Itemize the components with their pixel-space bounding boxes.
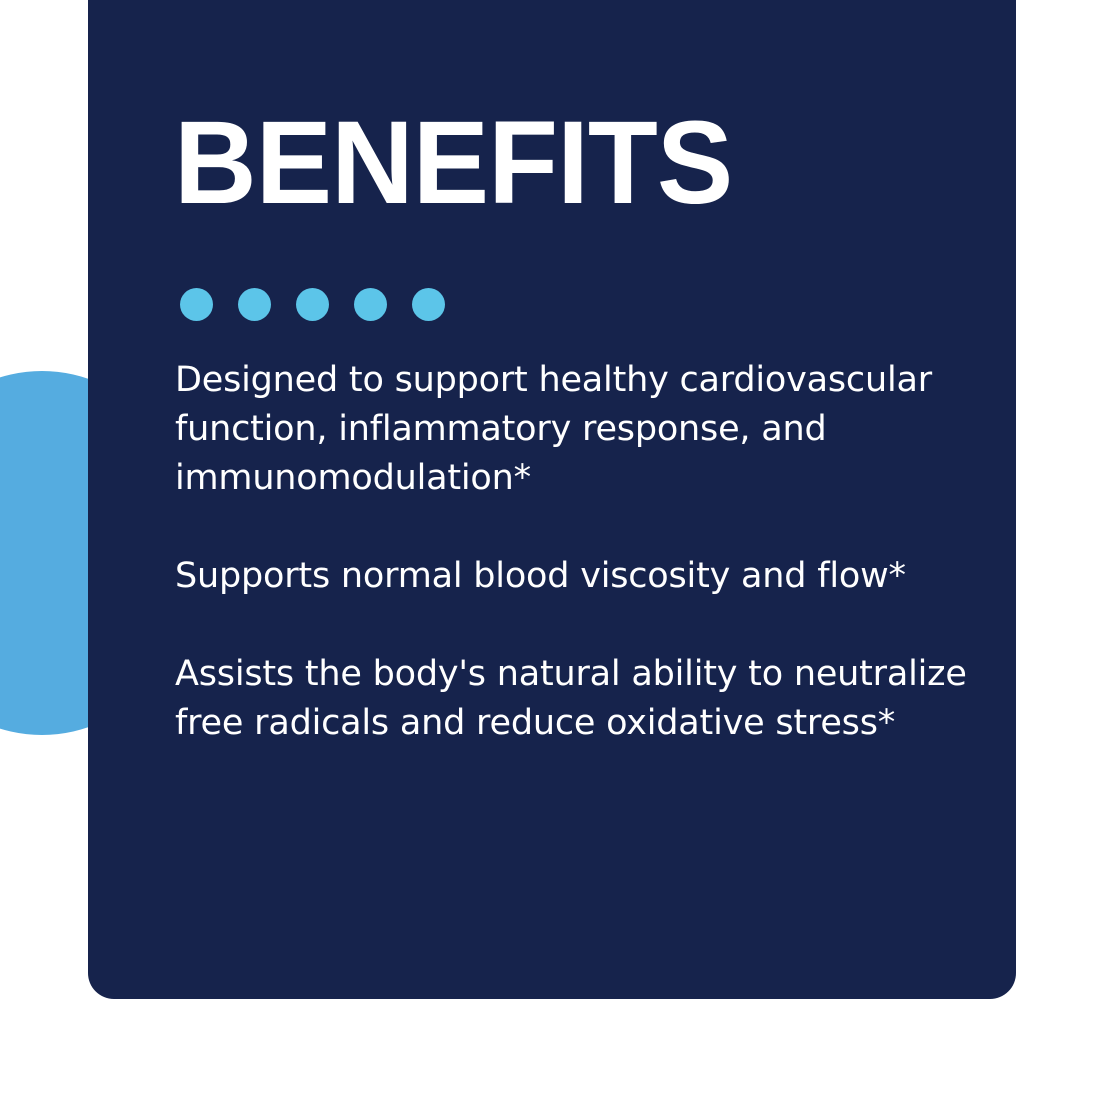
- divider-dot-icon: [296, 288, 329, 321]
- benefits-card-content: BENEFITS Designed to support healthy car…: [88, 0, 1016, 999]
- benefits-card: BENEFITS Designed to support healthy car…: [88, 0, 1016, 999]
- benefits-list: Designed to support healthy cardiovascul…: [175, 356, 985, 748]
- divider-dot-icon: [412, 288, 445, 321]
- dot-divider: [180, 288, 445, 321]
- list-item: Supports normal blood viscosity and flow…: [175, 552, 985, 601]
- divider-dot-icon: [238, 288, 271, 321]
- divider-dot-icon: [180, 288, 213, 321]
- benefits-graphic: BENEFITS Designed to support healthy car…: [0, 0, 1100, 1100]
- page-title: BENEFITS: [174, 104, 732, 222]
- list-item: Assists the body's natural ability to ne…: [175, 650, 985, 748]
- list-item: Designed to support healthy cardiovascul…: [175, 356, 985, 503]
- divider-dot-icon: [354, 288, 387, 321]
